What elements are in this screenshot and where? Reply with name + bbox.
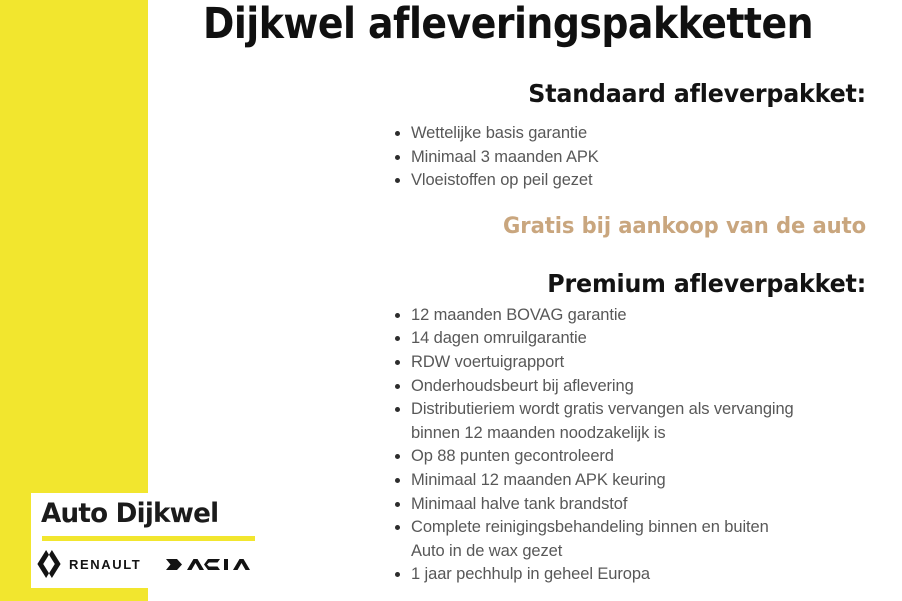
list-item-label-continued: Auto in de wax gezet — [411, 540, 866, 564]
list-item: Minimaal 3 maanden APK — [300, 146, 866, 170]
list-item: 12 maanden BOVAG garantie — [300, 304, 866, 328]
list-item-label: Distributieriem wordt gratis vervangen a… — [411, 400, 794, 418]
promo-banner-text: Gratis bij aankoop van de auto — [323, 212, 866, 242]
list-item-label: Minimaal halve tank brandstof — [411, 495, 627, 513]
list-item: 1 jaar pechhulp in geheel Europa — [300, 563, 866, 587]
list-item: Op 88 punten gecontroleerd — [300, 445, 866, 469]
list-item-label: 12 maanden BOVAG garantie — [411, 306, 627, 324]
list-item-label: 1 jaar pechhulp in geheel Europa — [411, 565, 650, 583]
standard-package-heading: Standaard afleverpakket: — [328, 78, 866, 110]
bullet-icon — [395, 478, 400, 483]
dealer-logo: Auto Dijkwel RENAULT — [31, 493, 266, 588]
packages-content: Standaard afleverpakket: Wettelijke basi… — [300, 78, 866, 587]
dealer-name: Auto Dijkwel — [41, 497, 218, 531]
bullet-icon — [395, 384, 400, 389]
bullet-icon — [395, 131, 400, 136]
list-item-label: Wettelijke basis garantie — [411, 124, 587, 142]
list-item: Distributieriem wordt gratis vervangen a… — [300, 398, 866, 445]
list-item-label: RDW voertuigrapport — [411, 353, 564, 371]
list-item-label-continued: binnen 12 maanden noodzakelijk is — [411, 422, 866, 446]
bullet-icon — [395, 502, 400, 507]
list-item-label: Op 88 punten gecontroleerd — [411, 447, 614, 465]
dacia-wordmark-icon — [165, 556, 261, 573]
bullet-icon — [395, 360, 400, 365]
list-item: 14 dagen omruilgarantie — [300, 327, 866, 351]
logo-underline-bar — [42, 536, 255, 541]
list-item-label: Minimaal 12 maanden APK keuring — [411, 471, 666, 489]
list-item: Vloeistoffen op peil gezet — [300, 169, 866, 193]
page-title: Dijkwel afleveringspakketten — [193, 0, 823, 54]
list-item-label: Vloeistoffen op peil gezet — [411, 171, 592, 189]
bullet-icon — [395, 525, 400, 530]
bullet-icon — [395, 155, 400, 160]
renault-label: RENAULT — [69, 557, 141, 572]
list-item-label: Onderhoudsbeurt bij aflevering — [411, 377, 634, 395]
bullet-icon — [395, 407, 400, 412]
bullet-icon — [395, 572, 400, 577]
bullet-icon — [395, 313, 400, 318]
bullet-icon — [395, 336, 400, 341]
list-item-label: Minimaal 3 maanden APK — [411, 148, 599, 166]
premium-package-heading: Premium afleverpakket: — [328, 268, 866, 300]
promo-poster: Dijkwel afleveringspakketten Standaard a… — [0, 0, 902, 601]
list-item: Complete reinigingsbehandeling binnen en… — [300, 516, 866, 563]
list-item: Minimaal 12 maanden APK keuring — [300, 469, 866, 493]
list-item: RDW voertuigrapport — [300, 351, 866, 375]
list-item: Minimaal halve tank brandstof — [300, 493, 866, 517]
list-item-label: Complete reinigingsbehandeling binnen en… — [411, 518, 769, 536]
list-item-label: 14 dagen omruilgarantie — [411, 329, 587, 347]
renault-diamond-icon — [36, 549, 62, 579]
list-item: Wettelijke basis garantie — [300, 122, 866, 146]
premium-package-list: 12 maanden BOVAG garantie 14 dagen omrui… — [300, 304, 866, 587]
list-item: Onderhoudsbeurt bij aflevering — [300, 375, 866, 399]
brand-row: RENAULT — [36, 547, 266, 581]
bullet-icon — [395, 454, 400, 459]
bullet-icon — [395, 178, 400, 183]
standard-package-list: Wettelijke basis garantie Minimaal 3 maa… — [300, 122, 866, 193]
